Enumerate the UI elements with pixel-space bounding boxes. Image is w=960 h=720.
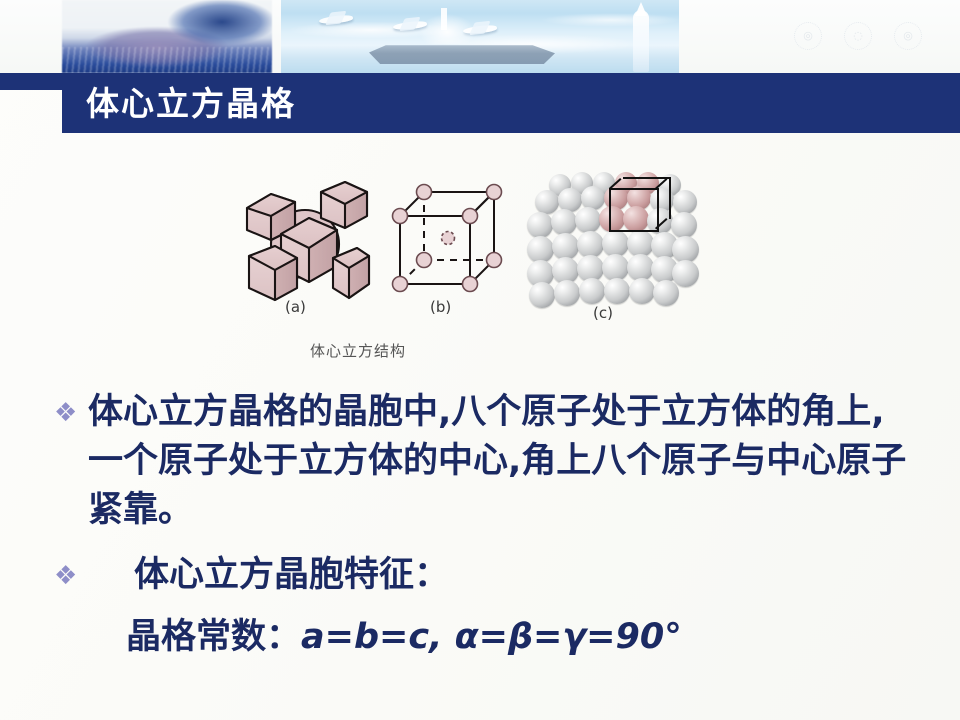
banner-image-hands-keyboard xyxy=(62,0,272,73)
panel-a-svg xyxy=(237,172,375,312)
lattice-constant-line: 晶格常数：a=b=c, α=β=γ=90° xyxy=(52,613,942,661)
corner-watermark-icons: ◎ ◌ ◎ xyxy=(794,22,922,50)
circle-watermark-icon-2: ◌ xyxy=(844,22,872,50)
sphere-packing-lattice-diagram: (c) xyxy=(527,172,697,320)
bcc-wireframe-unit-cell-diagram: (b) xyxy=(382,172,517,312)
lattice-constant-value: a=b=c, α=β=γ=90° xyxy=(301,617,682,657)
figure-bcc-structures: (a) xyxy=(232,172,702,362)
header-banner-strip: ◎ ◌ ◎ xyxy=(0,0,960,73)
panel-label-a: (a) xyxy=(285,298,306,316)
panel-b-svg xyxy=(382,172,517,312)
lattice-constant-label: 晶格常数： xyxy=(126,617,301,657)
circle-watermark-icon-3: ◎ xyxy=(894,22,922,50)
figure-panels: (a) xyxy=(232,172,702,322)
banner-image-sky-defense xyxy=(281,0,679,73)
circle-watermark-icon-1: ◎ xyxy=(794,22,822,50)
panel-label-c: (c) xyxy=(593,304,613,322)
bullet-paragraph-2-text: 体心立方晶胞特征： xyxy=(88,551,449,600)
bullet-paragraph-1-text: 体心立方晶格的晶胞中,八个原子处于立方体的角上,一个原子处于立方体的中心,角上八… xyxy=(88,388,918,535)
figure-caption: 体心立方结构 xyxy=(310,340,406,361)
slide-canvas: ◎ ◌ ◎ 体心立方晶格 xyxy=(0,0,960,720)
rocket-icon xyxy=(633,10,649,72)
diamond-bullet-icon-1: ❖ xyxy=(52,388,88,438)
panel-label-b: (b) xyxy=(430,298,451,316)
slide-body: ❖ 体心立方晶格的晶胞中,八个原子处于立方体的角上,一个原子处于立方体的中心,角… xyxy=(52,388,942,661)
warship-superstructure-icon xyxy=(417,8,477,44)
bullet-paragraph-1: ❖ 体心立方晶格的晶胞中,八个原子处于立方体的角上,一个原子处于立方体的中心,角… xyxy=(52,388,942,535)
diamond-bullet-icon-2: ❖ xyxy=(52,551,88,601)
page-title: 体心立方晶格 xyxy=(86,84,296,124)
sphere-stack xyxy=(527,172,697,322)
highlighted-unit-cell-outline xyxy=(609,188,659,232)
space-filling-cubes-diagram: (a) xyxy=(237,172,375,312)
bullet-paragraph-2: ❖ 体心立方晶胞特征： xyxy=(52,551,942,601)
